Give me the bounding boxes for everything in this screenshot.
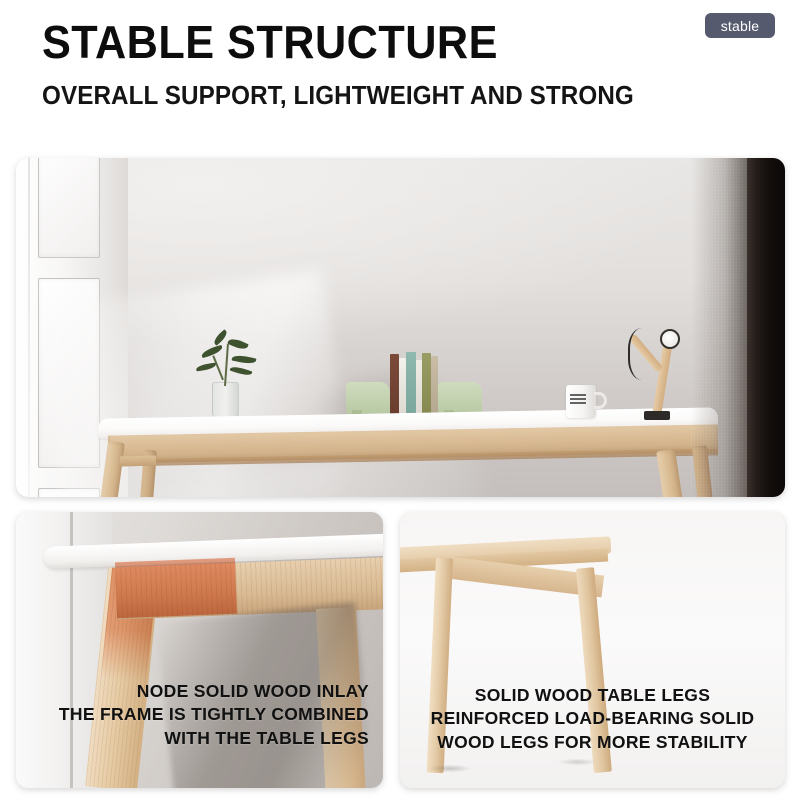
door-inset-top xyxy=(38,158,100,258)
header: STABLE STRUCTURE OVERALL SUPPORT, LIGHTW… xyxy=(0,0,800,140)
joint-caption-line-2: THE FRAME IS TIGHTLY COMBINED xyxy=(59,703,369,726)
lamp-head xyxy=(660,329,680,349)
book xyxy=(422,353,431,416)
elephant-bookend-left xyxy=(346,382,390,416)
curtain-texture xyxy=(691,158,747,497)
lamp-cable xyxy=(628,328,662,380)
joint-detail-panel[interactable]: NODE SOLID WOOD INLAY THE FRAME IS TIGHT… xyxy=(16,512,383,788)
leg-foot-shadow xyxy=(550,758,605,766)
joint-detail-caption: NODE SOLID WOOD INLAY THE FRAME IS TIGHT… xyxy=(59,680,369,750)
mug-print xyxy=(570,394,586,404)
legs-caption-line-3: WOOD LEGS FOR MORE STABILITY xyxy=(400,731,785,754)
inlay-node-highlight xyxy=(115,558,237,619)
page-subtitle: OVERALL SUPPORT, LIGHTWEIGHT AND STRONG xyxy=(42,82,634,111)
book xyxy=(390,354,399,416)
book xyxy=(431,356,438,416)
joint-caption-line-3: WITH THE TABLE LEGS xyxy=(59,727,369,750)
hero-scene xyxy=(16,158,785,497)
hero-caption-line-1: HORIZONTAL SUPPORT xyxy=(16,490,785,497)
legs-caption-line-1: SOLID WOOD TABLE LEGS xyxy=(400,684,785,707)
desk-stretcher xyxy=(120,456,156,467)
hero-caption: HORIZONTAL SUPPORT WHOLE PLATE REINFORCE… xyxy=(16,490,785,497)
page-title: STABLE STRUCTURE xyxy=(42,18,498,66)
legs-detail-panel[interactable]: SOLID WOOD TABLE LEGS REINFORCED LOAD-BE… xyxy=(400,512,785,788)
hero-image-panel[interactable]: HORIZONTAL SUPPORT WHOLE PLATE REINFORCE… xyxy=(16,158,785,497)
book-stack xyxy=(346,350,476,416)
joint-caption-line-1: NODE SOLID WOOD INLAY xyxy=(59,680,369,703)
leg-foot-shadow xyxy=(420,764,480,773)
lamp-base xyxy=(644,411,670,420)
legs-caption-line-2: REINFORCED LOAD-BEARING SOLID xyxy=(400,707,785,730)
dark-curtain xyxy=(747,158,785,497)
book xyxy=(399,358,406,416)
glass-vase xyxy=(212,382,239,418)
status-badge[interactable]: stable xyxy=(705,13,775,38)
book xyxy=(406,352,416,416)
legs-detail-caption: SOLID WOOD TABLE LEGS REINFORCED LOAD-BE… xyxy=(400,684,785,754)
